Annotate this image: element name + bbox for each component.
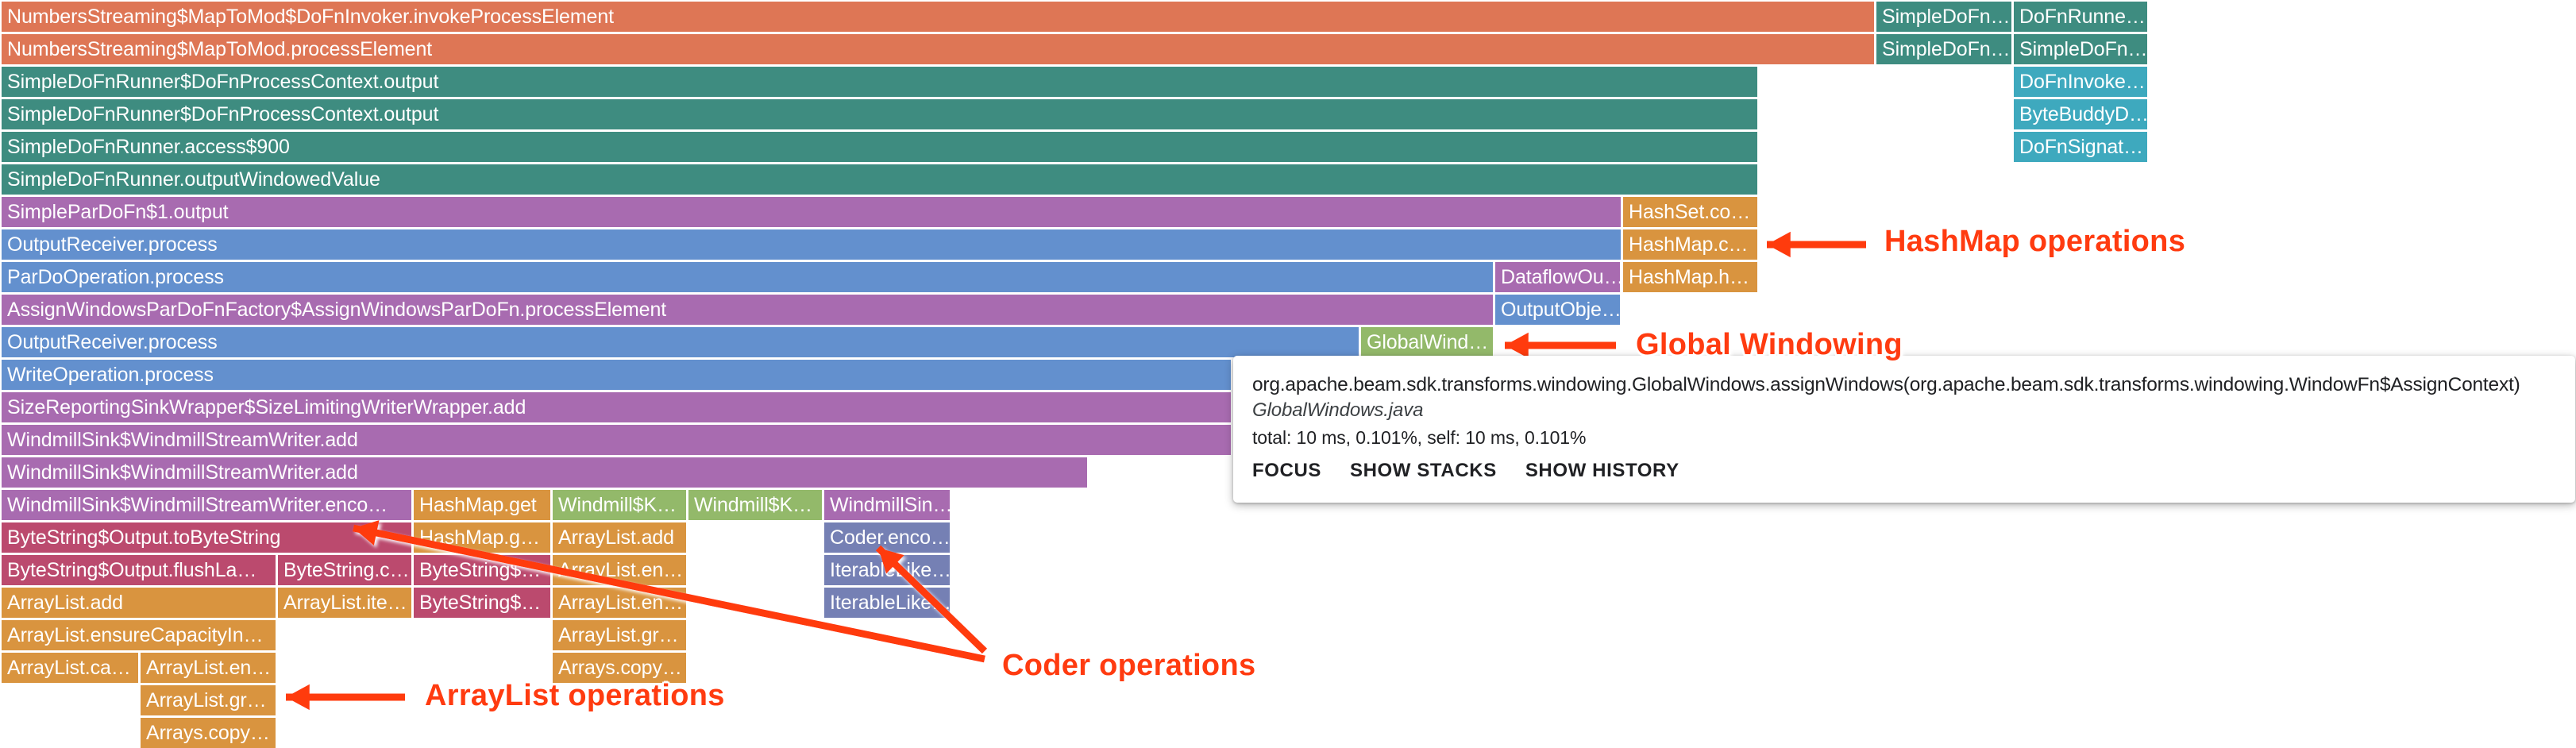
annotation-label: ArrayList operations xyxy=(425,679,725,713)
tooltip-source-file: GlobalWindows.java xyxy=(1252,397,2556,424)
flame-frame[interactable]: ArrayList.add xyxy=(2,588,276,618)
flame-frame[interactable]: WindmillSink$WindmillStreamWriter.add xyxy=(2,425,1231,455)
flame-frame[interactable]: ArrayList.gr… xyxy=(141,685,276,715)
flame-frame[interactable]: SimpleDoFn… xyxy=(1876,2,2011,32)
flame-frame[interactable]: ArrayList.en… xyxy=(141,653,276,683)
flame-frame[interactable]: ArrayList.ca… xyxy=(2,653,138,683)
flame-frame[interactable]: SimpleDoFnRunner$DoFnProcessContext.outp… xyxy=(2,99,1757,129)
flame-frame[interactable]: ArrayList.en… xyxy=(553,555,686,585)
tooltip-actions: FOCUS SHOW STACKS SHOW HISTORY xyxy=(1252,457,1708,485)
flame-frame[interactable]: HashMap.get xyxy=(414,490,550,520)
flame-frame[interactable]: WindmillSink$WindmillStreamWriter.add xyxy=(2,457,1087,488)
flame-frame[interactable]: DoFnInvoke… xyxy=(2014,67,2147,97)
flame-frame[interactable]: SimpleDoFnRunner.access$900 xyxy=(2,132,1757,162)
flame-frame[interactable]: HashMap.h… xyxy=(1623,262,1757,292)
annotation-label: HashMap operations xyxy=(1884,225,2185,259)
flame-frame[interactable]: ByteString$… xyxy=(414,555,550,585)
focus-button[interactable]: FOCUS xyxy=(1252,457,1336,485)
flame-frame[interactable]: ByteString$… xyxy=(414,588,550,618)
annotation-label: Coder operations xyxy=(1002,649,1255,683)
flame-frame[interactable]: NumbersStreaming$MapToMod.processElement xyxy=(2,34,1874,64)
flame-frame[interactable]: OutputReceiver.process xyxy=(2,327,1359,357)
flame-frame[interactable]: GlobalWind… xyxy=(1361,327,1493,357)
frame-tooltip[interactable]: org.apache.beam.sdk.transforms.windowing… xyxy=(1233,356,2575,503)
flame-frame[interactable]: DoFnSignat… xyxy=(2014,132,2147,162)
flame-frame[interactable]: DoFnRunne… xyxy=(2014,2,2147,32)
flame-frame[interactable]: WindmillSin… xyxy=(824,490,950,520)
flame-frame[interactable]: Windmill$K… xyxy=(553,490,686,520)
flame-frame[interactable]: ParDoOperation.process xyxy=(2,262,1493,292)
flame-frame[interactable]: SimpleDoFn… xyxy=(1876,34,2011,64)
flame-frame[interactable]: Windmill$K… xyxy=(688,490,822,520)
flame-frame[interactable]: Arrays.copy… xyxy=(141,718,276,748)
tooltip-stats: total: 10 ms, 0.101%, self: 10 ms, 0.101… xyxy=(1252,424,2556,451)
flame-frame[interactable]: Coder.enco… xyxy=(824,522,950,553)
show-stacks-button[interactable]: SHOW STACKS xyxy=(1350,457,1511,485)
flame-frame[interactable]: ArrayList.ensureCapacityIn… xyxy=(2,620,276,650)
flame-frame[interactable]: HashSet.co… xyxy=(1623,197,1757,227)
flame-frame[interactable]: IterableLike… xyxy=(824,555,950,585)
flame-frame[interactable]: ByteString$Output.flushLa… xyxy=(2,555,276,585)
flame-frame[interactable]: SimpleParDoFn$1.output xyxy=(2,197,1621,227)
tooltip-signature: org.apache.beam.sdk.transforms.windowing… xyxy=(1252,373,2556,397)
flame-frame[interactable]: WriteOperation.process xyxy=(2,360,1231,390)
show-history-button[interactable]: SHOW HISTORY xyxy=(1525,457,1694,485)
flame-frame[interactable]: OutputObje… xyxy=(1495,295,1620,325)
flame-frame[interactable]: SimpleDoFnRunner$DoFnProcessContext.outp… xyxy=(2,67,1757,97)
flame-frame[interactable]: OutputReceiver.process xyxy=(2,229,1621,260)
flame-frame[interactable]: ByteString.c… xyxy=(278,555,411,585)
flame-frame[interactable]: SizeReportingSinkWrapper$SizeLimitingWri… xyxy=(2,392,1231,422)
flame-frame[interactable]: NumbersStreaming$MapToMod$DoFnInvoker.in… xyxy=(2,2,1874,32)
flame-frame[interactable]: AssignWindowsParDoFnFactory$AssignWindow… xyxy=(2,295,1493,325)
flame-frame[interactable]: WindmillSink$WindmillStreamWriter.enco… xyxy=(2,490,411,520)
flame-frame[interactable]: HashMap.g… xyxy=(414,522,550,553)
flame-frame[interactable]: SimpleDoFn… xyxy=(2014,34,2147,64)
flame-frame[interactable]: ByteString$Output.toByteString xyxy=(2,522,411,553)
flame-frame[interactable]: DataflowOu… xyxy=(1495,262,1620,292)
flame-frame[interactable]: ArrayList.ite… xyxy=(278,588,411,618)
flame-frame[interactable]: IterableLike… xyxy=(824,588,950,618)
flame-frame[interactable]: ArrayList.en… xyxy=(553,588,686,618)
flame-frame[interactable]: ArrayList.add xyxy=(553,522,686,553)
flame-frame[interactable]: SimpleDoFnRunner.outputWindowedValue xyxy=(2,164,1757,195)
annotation-label: Global Windowing xyxy=(1636,328,1903,362)
flame-frame[interactable]: ByteBuddyD… xyxy=(2014,99,2147,129)
flame-frame[interactable]: HashMap.c… xyxy=(1623,229,1757,260)
flame-frame[interactable]: ArrayList.gr… xyxy=(553,620,686,650)
